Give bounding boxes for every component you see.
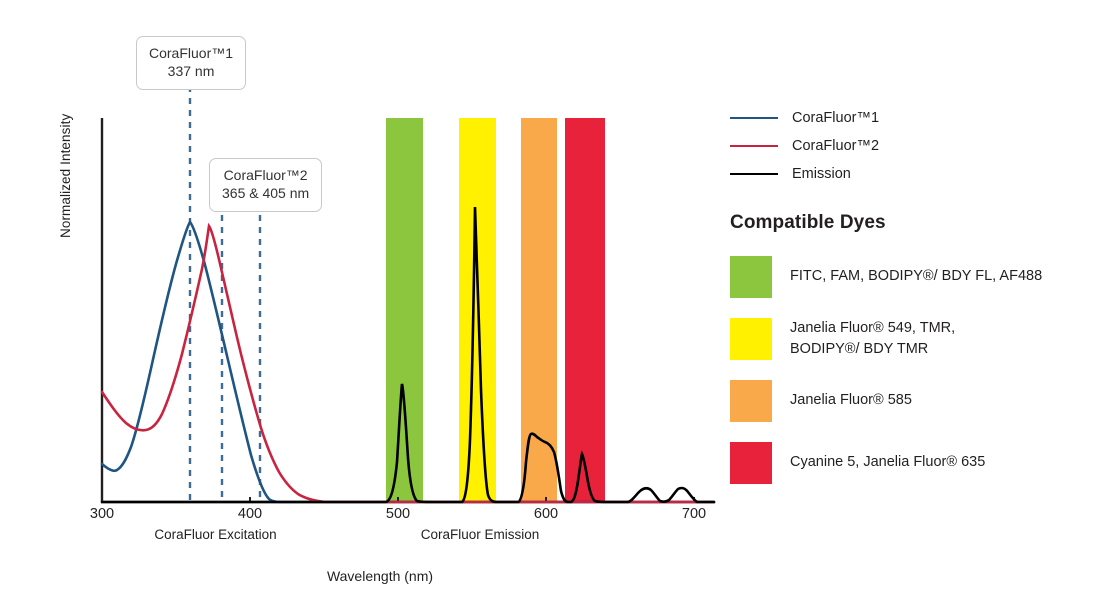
legend-series-label: Emission (792, 166, 851, 182)
dye-label-green: FITC, FAM, BODIPY®/ BDY FL, AF488 (790, 266, 1042, 287)
legend-line-swatch-corafluor-2 (730, 145, 778, 147)
dye-row-green: FITC, FAM, BODIPY®/ BDY FL, AF488 (730, 252, 1102, 302)
figure-root: Normalized Intensity 300 400 500 600 700… (0, 0, 1110, 612)
dye-label-yellow: Janelia Fluor® 549, TMR, BODIPY®/ BDY TM… (790, 318, 955, 360)
compatible-dyes-list: FITC, FAM, BODIPY®/ BDY FL, AF488 Janeli… (730, 252, 1102, 488)
x-tick-label-300: 300 (72, 506, 132, 522)
annotation-cf1-line2: 337 nm (149, 62, 233, 80)
dye-label-line2: BODIPY®/ BDY TMR (790, 339, 955, 360)
emission-bands (386, 118, 605, 502)
dye-label-line1: Janelia Fluor® 549, TMR, (790, 320, 955, 336)
x-axis-title: Wavelength (nm) (280, 568, 480, 584)
dye-row-red: Cyanine 5, Janelia Fluor® 635 (730, 438, 1102, 488)
emission-band-orange (521, 118, 557, 502)
dye-color-swatch-yellow (730, 318, 772, 360)
emission-band-red (565, 118, 605, 502)
excitation-marker-lines (190, 86, 260, 502)
y-axis-title: Normalized Intensity (58, 58, 73, 238)
legend-line-swatch-corafluor-1 (730, 117, 778, 119)
x-tick-label-500: 500 (368, 506, 428, 522)
dye-color-swatch-green (730, 256, 772, 298)
x-tick-label-400: 400 (220, 506, 280, 522)
dye-color-swatch-red (730, 442, 772, 484)
legend-series-label: CoraFluor™1 (792, 110, 879, 126)
dye-label-line1: Janelia Fluor® 585 (790, 392, 912, 408)
annotation-cf2-line1: CoraFluor™2 (224, 167, 308, 183)
dye-row-orange: Janelia Fluor® 585 (730, 376, 1102, 426)
annotation-callout-corafluor-1: CoraFluor™1 337 nm (136, 36, 246, 90)
dye-label-orange: Janelia Fluor® 585 (790, 390, 912, 411)
legend-series-corafluor-1: CoraFluor™1 (730, 104, 1102, 132)
spectra-chart: Normalized Intensity 300 400 500 600 700… (0, 0, 740, 612)
dye-row-yellow: Janelia Fluor® 549, TMR, BODIPY®/ BDY TM… (730, 314, 1102, 364)
annotation-callout-corafluor-2: CoraFluor™2 365 & 405 nm (209, 158, 322, 212)
zone-label-excitation: CoraFluor Excitation (138, 527, 293, 542)
dye-label-red: Cyanine 5, Janelia Fluor® 635 (790, 452, 985, 473)
legend-line-swatch-emission (730, 173, 778, 175)
annotation-cf2-line2: 365 & 405 nm (222, 184, 309, 202)
annotation-cf1-line1: CoraFluor™1 (149, 45, 233, 61)
dye-label-line1: FITC, FAM, BODIPY®/ BDY FL, AF488 (790, 268, 1042, 284)
dye-label-line1: Cyanine 5, Janelia Fluor® 635 (790, 454, 985, 470)
dye-color-swatch-orange (730, 380, 772, 422)
emission-band-green (386, 118, 423, 502)
x-tick-label-700: 700 (664, 506, 724, 522)
legend-series-label: CoraFluor™2 (792, 138, 879, 154)
legend-series-emission: Emission (730, 160, 1102, 188)
compatible-dyes-heading: Compatible Dyes (730, 212, 1102, 234)
zone-label-emission: CoraFluor Emission (400, 527, 560, 542)
legend-panel: CoraFluor™1 CoraFluor™2 Emission Compati… (730, 104, 1102, 500)
legend-series-corafluor-2: CoraFluor™2 (730, 132, 1102, 160)
x-tick-label-600: 600 (516, 506, 576, 522)
